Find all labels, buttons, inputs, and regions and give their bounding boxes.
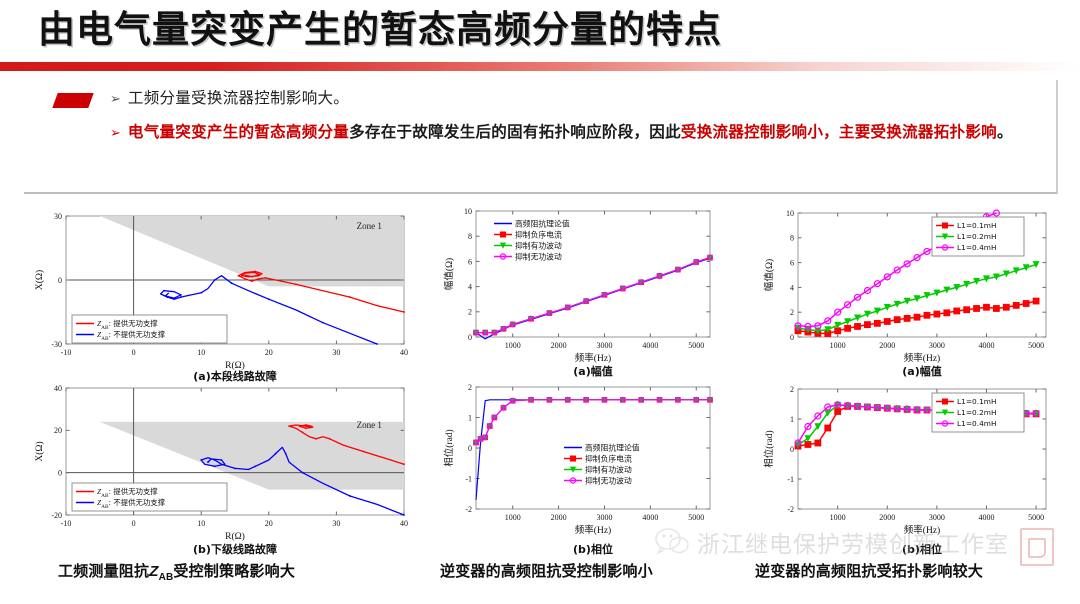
- svg-text:-30: -30: [51, 340, 62, 349]
- svg-text:频率(Hz): 频率(Hz): [575, 524, 611, 536]
- svg-text:L1=0.1mH: L1=0.1mH: [957, 221, 997, 230]
- svg-text:-2: -2: [787, 505, 794, 514]
- svg-text:4000: 4000: [642, 341, 658, 350]
- svg-text:10: 10: [786, 209, 794, 218]
- svg-text:幅值(Ω): 幅值(Ω): [763, 259, 775, 291]
- svg-text:40: 40: [54, 384, 62, 393]
- svg-text:3000: 3000: [596, 513, 612, 522]
- bullet-item-2: ➢ 电气量突变产生的暂态高频分量多存在于故障发生后的固有拓扑响应阶段，因此受换流…: [110, 118, 1040, 148]
- svg-text:2000: 2000: [879, 513, 895, 522]
- bullet-2-seg-dark-1: 多存在于故障发生后的固有拓扑响应阶段，因此: [349, 124, 681, 141]
- caption-row: 工频测量阻抗ZAB受控制策略影响大 逆变器的高频阻抗受控制影响小 逆变器的高频阻…: [0, 560, 1080, 590]
- svg-text:4: 4: [790, 283, 794, 292]
- figure-b-impedance: -10010203040-2002040Zone 1R(Ω)X(Ω)(b)下级线…: [32, 380, 412, 555]
- svg-text:0: 0: [58, 276, 62, 285]
- svg-text:Zone 1: Zone 1: [357, 221, 382, 231]
- svg-text:0: 0: [468, 444, 472, 453]
- svg-text:-20: -20: [51, 511, 62, 520]
- title-underline-bar: [0, 62, 1080, 71]
- red-parallelogram-marker: [52, 93, 93, 108]
- svg-text:4: 4: [468, 282, 472, 291]
- caption-left: 工频测量阻抗ZAB受控制策略影响大: [58, 560, 295, 583]
- caption-left-symbol: Z: [149, 563, 158, 580]
- svg-text:(a)幅值: (a)幅值: [573, 364, 612, 377]
- svg-text:1000: 1000: [505, 513, 521, 522]
- figure-phase-control: 10002000300040005000-2-1012频率(Hz)相位(rad)…: [440, 377, 720, 555]
- svg-text:0: 0: [790, 333, 794, 342]
- svg-text:0: 0: [132, 348, 136, 357]
- svg-text:4000: 4000: [642, 513, 658, 522]
- svg-text:-1: -1: [787, 475, 794, 484]
- svg-text:抑制有功波动: 抑制有功波动: [585, 464, 632, 474]
- bullet-item-1: ➢ 工频分量受换流器控制影响大。: [110, 84, 1040, 114]
- svg-text:10: 10: [464, 207, 472, 216]
- svg-text:相位(rad): 相位(rad): [763, 430, 775, 467]
- svg-text:20: 20: [54, 426, 62, 435]
- page-title-wrapper: 由电气量突变产生的暂态高频分量的特点: [38, 4, 1038, 56]
- svg-text:5000: 5000: [1028, 341, 1044, 350]
- svg-text:0: 0: [58, 469, 62, 478]
- svg-text:2: 2: [468, 383, 472, 392]
- svg-text:X(Ω): X(Ω): [34, 441, 45, 461]
- svg-text:5000: 5000: [1028, 513, 1044, 522]
- figure-a-impedance: -10010203040-30030Zone 1R(Ω)X(Ω)(a)本段线路故…: [32, 210, 412, 382]
- arrow-icon: ➢: [110, 84, 121, 114]
- svg-text:2: 2: [790, 308, 794, 317]
- svg-text:30: 30: [54, 212, 62, 221]
- svg-text:L1=0.4mH: L1=0.4mH: [957, 419, 997, 428]
- svg-text:相位(rad): 相位(rad): [443, 429, 455, 466]
- svg-text:Zone 1: Zone 1: [357, 420, 382, 430]
- svg-text:0: 0: [132, 519, 136, 528]
- bullet-2-seg-red-1: 电气量突变产生的暂态高频分量: [128, 124, 349, 141]
- svg-text:2000: 2000: [551, 513, 567, 522]
- svg-text:5000: 5000: [688, 513, 704, 522]
- svg-text:(b)相位: (b)相位: [573, 542, 613, 555]
- svg-text:3000: 3000: [929, 513, 945, 522]
- svg-text:-2: -2: [465, 505, 472, 514]
- svg-text:抑制无功波动: 抑制无功波动: [515, 251, 562, 261]
- svg-text:X(Ω): X(Ω): [34, 270, 45, 290]
- figure-magnitude-control: 100020003000400050000246810频率(Hz)幅值(Ω)(a…: [440, 205, 720, 377]
- svg-text:(a)幅值: (a)幅值: [902, 364, 941, 377]
- bullet-text-1: 工频分量受换流器控制影响大。: [128, 84, 349, 114]
- svg-text:高频阻抗理论值: 高频阻抗理论值: [585, 442, 640, 452]
- svg-text:4000: 4000: [978, 513, 994, 522]
- svg-text:30: 30: [332, 519, 340, 528]
- caption-middle: 逆变器的高频阻抗受控制影响小: [440, 560, 653, 581]
- figure-phase-topology: 10002000300040005000-2-1012频率(Hz)相位(rad)…: [760, 377, 1060, 555]
- svg-text:L1=0.2mH: L1=0.2mH: [957, 232, 997, 241]
- svg-text:(b)下级线路故障: (b)下级线路故障: [193, 542, 277, 555]
- figure-magnitude-topology: 100020003000400050000246810频率(Hz)幅值(Ω)(a…: [760, 205, 1060, 377]
- svg-text:抑制无功波动: 抑制无功波动: [585, 475, 632, 485]
- svg-text:30: 30: [332, 348, 340, 357]
- svg-text:2: 2: [468, 308, 472, 317]
- svg-text:20: 20: [265, 348, 273, 357]
- svg-text:-1: -1: [465, 474, 472, 483]
- svg-text:0: 0: [468, 333, 472, 342]
- svg-text:-10: -10: [61, 348, 72, 357]
- svg-text:5000: 5000: [688, 341, 704, 350]
- svg-text:抑制负序电流: 抑制负序电流: [515, 229, 562, 239]
- svg-text:1: 1: [468, 413, 472, 422]
- svg-text:1000: 1000: [830, 341, 846, 350]
- svg-text:2000: 2000: [879, 341, 895, 350]
- svg-text:抑制有功波动: 抑制有功波动: [515, 240, 562, 250]
- svg-text:2000: 2000: [551, 341, 567, 350]
- bullet-2-seg-red-2: 受换流器控制影响小，主要受换流器拓扑影响: [681, 124, 997, 141]
- svg-text:频率(Hz): 频率(Hz): [904, 524, 940, 536]
- svg-text:高频阻抗理论值: 高频阻抗理论值: [515, 218, 570, 228]
- svg-text:-10: -10: [61, 519, 72, 528]
- caption-left-tail: 受控制策略影响大: [173, 563, 295, 580]
- svg-text:抑制负序电流: 抑制负序电流: [585, 453, 632, 463]
- svg-text:L1=0.1mH: L1=0.1mH: [957, 397, 997, 406]
- caption-left-subscript: AB: [159, 572, 174, 583]
- svg-text:R(Ω): R(Ω): [225, 531, 245, 542]
- svg-text:L1=0.4mH: L1=0.4mH: [957, 243, 997, 252]
- svg-text:1000: 1000: [505, 341, 521, 350]
- svg-text:3000: 3000: [929, 341, 945, 350]
- svg-text:1000: 1000: [830, 513, 846, 522]
- svg-text:10: 10: [197, 348, 205, 357]
- svg-text:40: 40: [400, 348, 408, 357]
- svg-text:频率(Hz): 频率(Hz): [575, 352, 611, 364]
- bullet-list: ➢ 工频分量受换流器控制影响大。 ➢ 电气量突变产生的暂态高频分量多存在于故障发…: [110, 84, 1040, 148]
- bullet-2-seg-dark-2: 。: [997, 124, 1013, 141]
- svg-text:0: 0: [790, 445, 794, 454]
- svg-text:频率(Hz): 频率(Hz): [904, 352, 940, 364]
- svg-text:幅值(Ω): 幅值(Ω): [443, 258, 455, 290]
- svg-text:6: 6: [790, 258, 794, 267]
- bullet-text-2: 电气量突变产生的暂态高频分量多存在于故障发生后的固有拓扑响应阶段，因此受换流器控…: [128, 118, 1013, 148]
- svg-text:1: 1: [790, 415, 794, 424]
- svg-text:40: 40: [400, 519, 408, 528]
- svg-text:6: 6: [468, 257, 472, 266]
- svg-text:8: 8: [790, 234, 794, 243]
- svg-text:3000: 3000: [596, 341, 612, 350]
- svg-text:8: 8: [468, 232, 472, 241]
- svg-text:2: 2: [790, 385, 794, 394]
- slide-root: 由电气量突变产生的暂态高频分量的特点 ➢ 工频分量受换流器控制影响大。 ➢ 电气…: [0, 0, 1080, 604]
- arrow-icon: ➢: [110, 118, 121, 148]
- figure-grid: -10010203040-30030Zone 1R(Ω)X(Ω)(a)本段线路故…: [0, 205, 1080, 555]
- svg-text:4000: 4000: [978, 341, 994, 350]
- caption-right: 逆变器的高频阻抗受拓扑影响较大: [755, 560, 983, 581]
- caption-left-main: 工频测量阻抗: [58, 563, 149, 580]
- svg-text:(b)相位: (b)相位: [902, 542, 942, 555]
- svg-text:L1=0.2mH: L1=0.2mH: [957, 408, 997, 417]
- svg-text:20: 20: [265, 519, 273, 528]
- svg-text:10: 10: [197, 519, 205, 528]
- page-title: 由电气量突变产生的暂态高频分量的特点: [38, 4, 1038, 56]
